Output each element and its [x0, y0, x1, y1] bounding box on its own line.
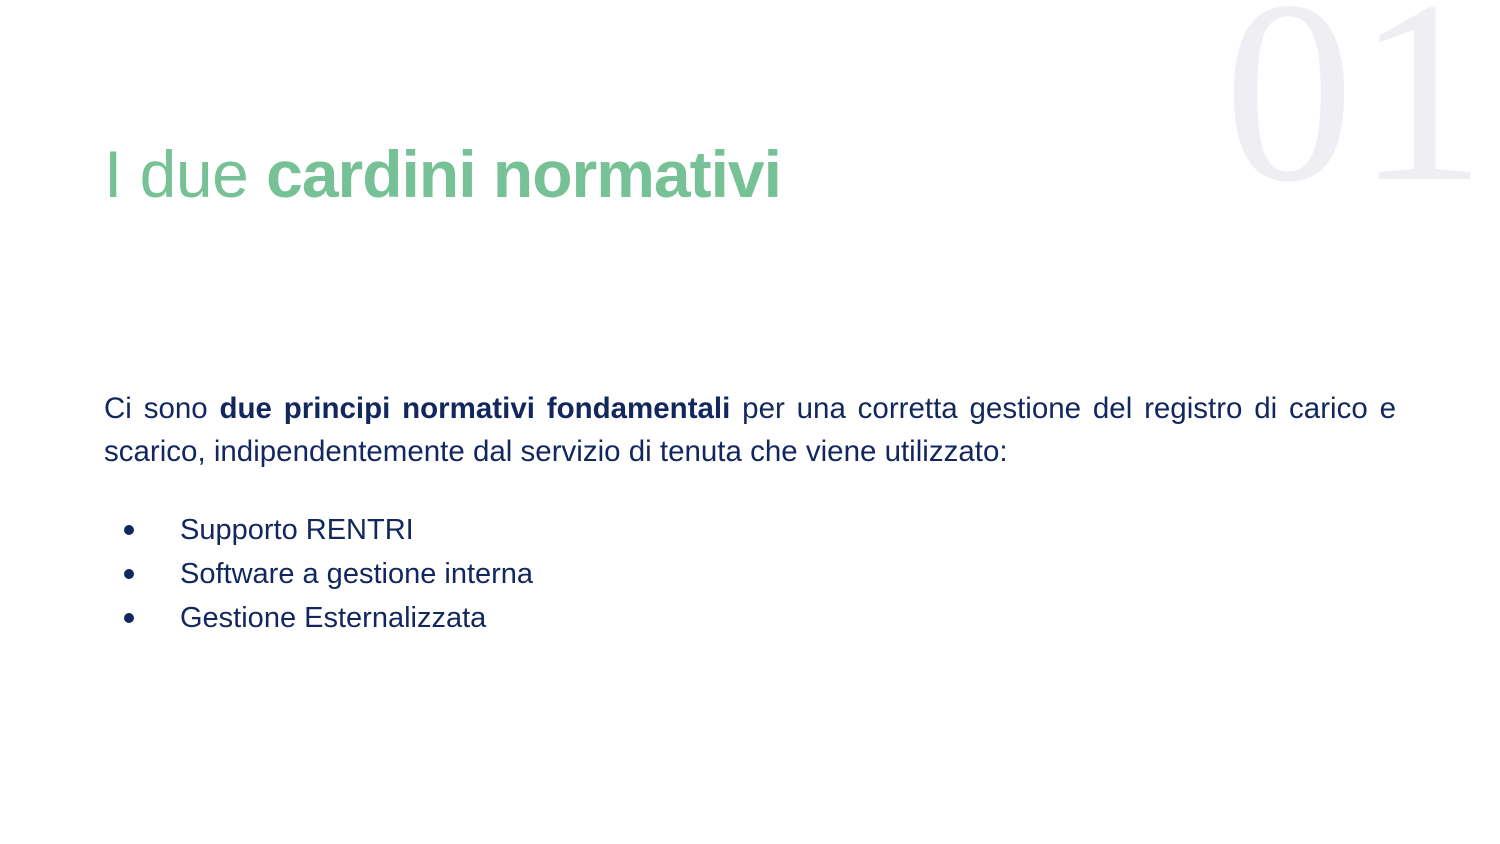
page-title-light: I due — [104, 137, 266, 211]
list-item-label: Supporto RENTRI — [180, 514, 414, 546]
list-item: Supporto RENTRI — [104, 508, 1004, 552]
list-item: Software a gestione interna — [104, 552, 1004, 596]
slide-number: 01 — [1224, 0, 1488, 222]
normative-bullet-list: Supporto RENTRI Software a gestione inte… — [104, 508, 1004, 640]
bullet-dot-icon — [124, 613, 134, 623]
intro-paragraph: Ci sono due principi normativi fondament… — [104, 387, 1396, 473]
slide-root: 01 I due cardini normativi Ci sono due p… — [0, 0, 1500, 844]
bullet-dot-icon — [124, 525, 134, 535]
page-title: I due cardini normativi — [104, 141, 781, 207]
intro-paragraph-lead: Ci sono — [104, 392, 220, 425]
intro-paragraph-emphasis: due principi normativi fondamentali — [220, 392, 731, 425]
list-item: Gestione Esternalizzata — [104, 596, 1004, 640]
list-item-label: Software a gestione interna — [180, 558, 533, 590]
list-item-label: Gestione Esternalizzata — [180, 602, 486, 634]
page-title-bold: cardini normativi — [266, 137, 781, 211]
bullet-dot-icon — [124, 569, 134, 579]
